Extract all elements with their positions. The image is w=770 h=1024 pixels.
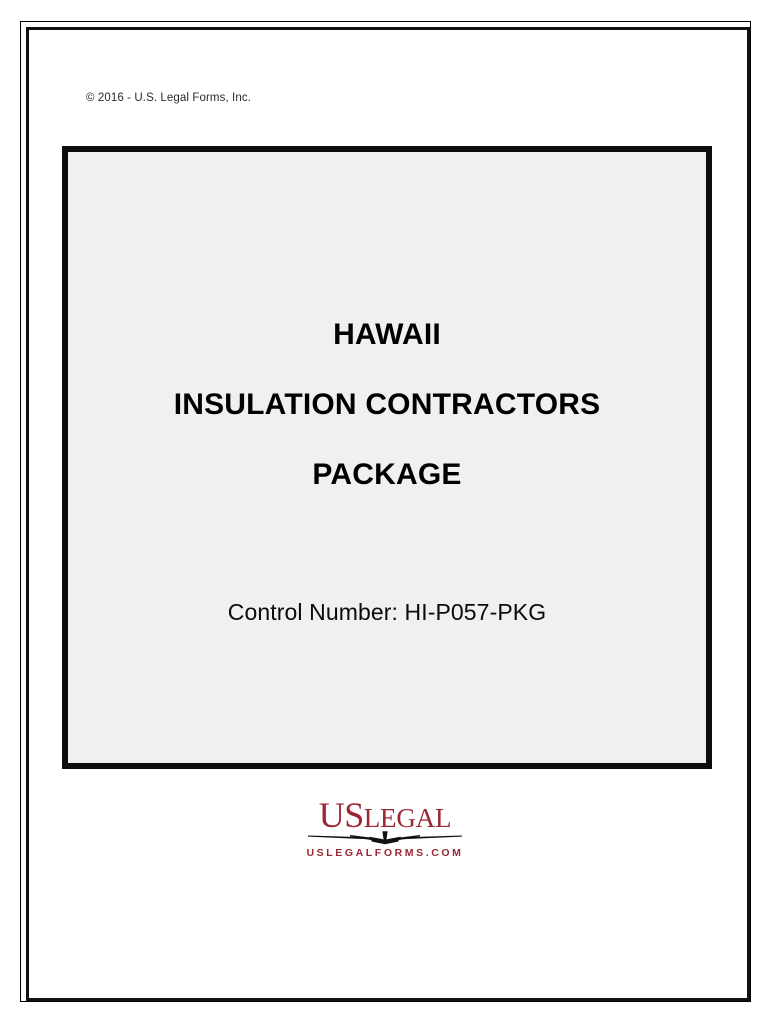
logo-domain-text: USLEGALFORMS.COM (0, 847, 770, 859)
uslegal-logo: USLEGAL USLEGALFORMS.COM (0, 797, 770, 867)
copyright-notice: © 2016 - U.S. Legal Forms, Inc. (86, 92, 251, 104)
title-line-state: HAWAII (68, 300, 706, 370)
title-line-category: INSULATION CONTRACTORS (68, 370, 706, 440)
control-number: Control Number: HI-P057-PKG (68, 599, 706, 626)
logo-wordmark-legal: LEGAL (364, 803, 451, 833)
title-line-package: PACKAGE (68, 440, 706, 510)
title-panel: HAWAII INSULATION CONTRACTORS PACKAGE Co… (62, 146, 712, 769)
logo-wordmark: USLEGAL (0, 797, 770, 831)
logo-wordmark-us: US (319, 795, 364, 835)
package-title: HAWAII INSULATION CONTRACTORS PACKAGE (68, 300, 706, 510)
document-page: © 2016 - U.S. Legal Forms, Inc. HAWAII I… (0, 0, 770, 1024)
